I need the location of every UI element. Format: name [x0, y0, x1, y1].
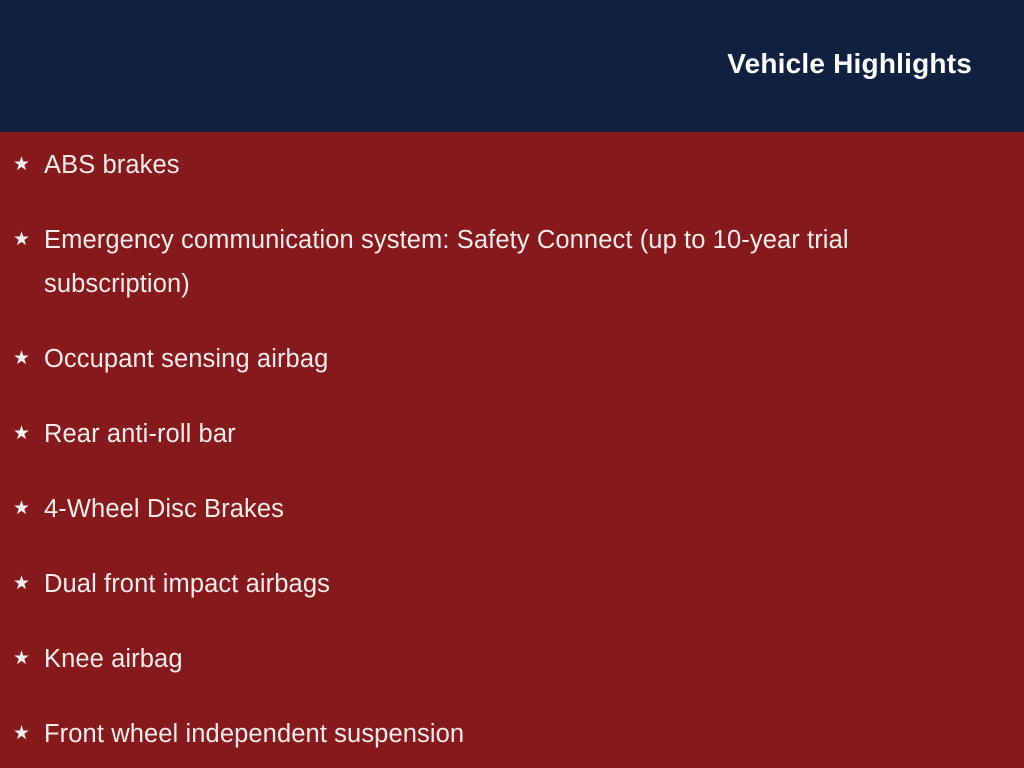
list-item-label: Knee airbag — [44, 637, 958, 681]
list-item: ★ Occupant sensing airbag — [0, 337, 958, 381]
list-item: ★ Knee airbag — [0, 637, 958, 681]
vehicle-highlights-list: ★ ABS brakes ★ Emergency communication s… — [0, 143, 1024, 768]
list-item: ★ Emergency communication system: Safety… — [0, 218, 958, 306]
star-bullet-icon: ★ — [13, 487, 35, 531]
list-item-label: Rear anti-roll bar — [44, 412, 958, 456]
star-bullet-icon: ★ — [13, 562, 35, 606]
slide-body: ★ ABS brakes ★ Emergency communication s… — [0, 132, 1024, 768]
list-item-label: 4-Wheel Disc Brakes — [44, 487, 958, 531]
star-bullet-icon: ★ — [13, 218, 35, 262]
list-item: ★ 4-Wheel Disc Brakes — [0, 487, 958, 531]
list-item: ★ ABS brakes — [0, 143, 958, 187]
star-bullet-icon: ★ — [13, 712, 35, 756]
list-item-label: Dual front impact airbags — [44, 562, 958, 606]
list-item-label: ABS brakes — [44, 143, 958, 187]
slide: Vehicle Highlights ★ ABS brakes ★ Emerge… — [0, 0, 1024, 768]
slide-header-bar: Vehicle Highlights — [0, 0, 1024, 132]
star-bullet-icon: ★ — [13, 337, 35, 381]
list-item-label: Emergency communication system: Safety C… — [44, 218, 958, 306]
list-item-label: Front wheel independent suspension — [44, 712, 958, 756]
list-item: ★ Front wheel independent suspension — [0, 712, 958, 756]
star-bullet-icon: ★ — [13, 412, 35, 456]
list-item-label: Occupant sensing airbag — [44, 337, 958, 381]
star-bullet-icon: ★ — [13, 143, 35, 187]
list-item: ★ Dual front impact airbags — [0, 562, 958, 606]
list-item: ★ Rear anti-roll bar — [0, 412, 958, 456]
star-bullet-icon: ★ — [13, 637, 35, 681]
page-title: Vehicle Highlights — [727, 47, 972, 81]
